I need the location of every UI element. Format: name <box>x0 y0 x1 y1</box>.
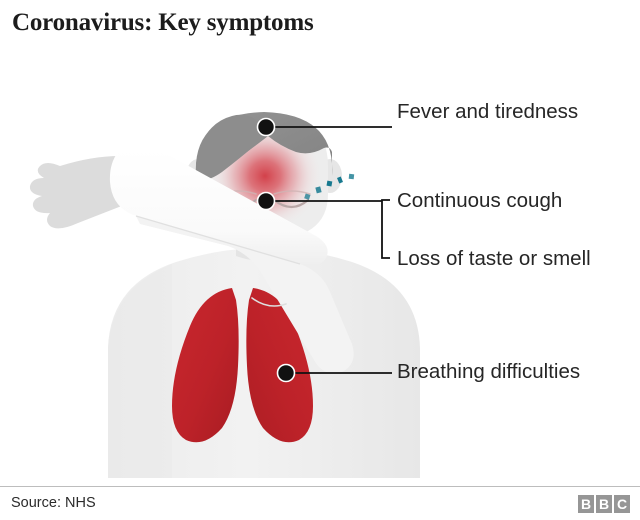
mouth-marker-dot <box>258 193 275 210</box>
bbc-logo-letter-2: B <box>596 495 612 513</box>
callout-label-cough: Continuous cough <box>397 189 562 213</box>
lung-marker-dot <box>278 365 295 382</box>
callout-label-fever: Fever and tiredness <box>397 100 578 124</box>
source-attribution: Source: NHS <box>11 493 96 513</box>
callout-label-taste: Loss of taste or smell <box>397 247 591 271</box>
callout-bracket <box>382 200 390 258</box>
bbc-logo-letter-1: B <box>578 495 594 513</box>
callout-label-breathing: Breathing difficulties <box>397 360 580 384</box>
bbc-logo-letter-3: C <box>614 495 630 513</box>
page-title: Coronavirus: Key symptoms <box>12 8 612 38</box>
bbc-logo: B B C <box>578 495 630 513</box>
footer-divider <box>0 486 640 487</box>
infographic-root: Coronavirus: Key symptoms <box>0 0 640 520</box>
forehead-marker-dot <box>258 119 275 136</box>
